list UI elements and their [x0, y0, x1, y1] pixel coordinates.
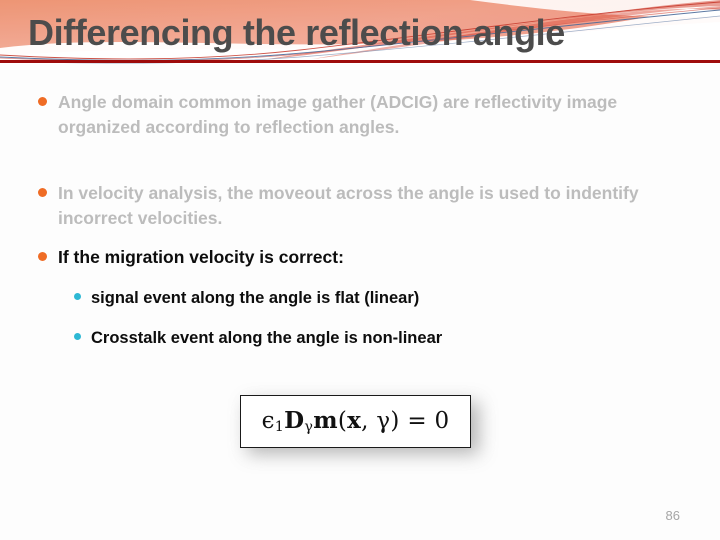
equation-arg-x: x — [347, 407, 361, 434]
bullet-item-3: If the migration velocity is correct: — [38, 245, 638, 270]
bullet-item-1: Angle domain common image gather (ADCIG)… — [38, 90, 638, 140]
sub-bullet-dot-icon — [74, 293, 81, 300]
bullet-text: In velocity analysis, the moveout across… — [58, 181, 658, 231]
equation-epsilon-subscript: 1 — [275, 420, 284, 436]
equation-model: m — [313, 407, 338, 434]
presentation-slide: Differencing the reflection angle Angle … — [0, 0, 720, 540]
bullet-item-2: In velocity analysis, the moveout across… — [38, 181, 658, 231]
slide-page-number: 86 — [666, 508, 680, 523]
equation-epsilon: ϵ — [262, 408, 275, 434]
equation-equals: = — [400, 408, 435, 434]
equation-open-paren: ( — [338, 408, 347, 434]
sub-bullet-item-1: signal event along the angle is flat (li… — [74, 286, 644, 310]
slide-body: Angle domain common image gather (ADCIG)… — [0, 64, 720, 540]
bullet-dot-icon — [38, 97, 47, 106]
sub-bullet-dot-icon — [74, 333, 81, 340]
bullet-text: If the migration velocity is correct: — [58, 245, 344, 270]
title-underline-rule — [0, 60, 720, 63]
sub-bullet-text: Crosstalk event along the angle is non-l… — [91, 326, 442, 350]
equation-comma: , — [361, 408, 376, 434]
page-title: Differencing the reflection angle — [28, 11, 688, 55]
slide-header-banner: Differencing the reflection angle — [0, 0, 720, 64]
equation-close-paren: ) — [390, 408, 399, 434]
equation-operator-subscript: γ — [304, 420, 313, 436]
bullet-dot-icon — [38, 188, 47, 197]
bullet-dot-icon — [38, 252, 47, 261]
sub-bullet-text: signal event along the angle is flat (li… — [91, 286, 419, 310]
equation-operator: D — [284, 407, 304, 434]
equation-arg-gamma: γ — [376, 408, 390, 434]
sub-bullet-item-2: Crosstalk event along the angle is non-l… — [74, 326, 644, 350]
equation-formula: ϵ1Dγm(x, γ) = 0 — [262, 407, 450, 435]
equation-callout-box: ϵ1Dγm(x, γ) = 0 — [240, 395, 471, 448]
bullet-text: Angle domain common image gather (ADCIG)… — [58, 90, 638, 140]
equation-rhs: 0 — [435, 408, 450, 434]
